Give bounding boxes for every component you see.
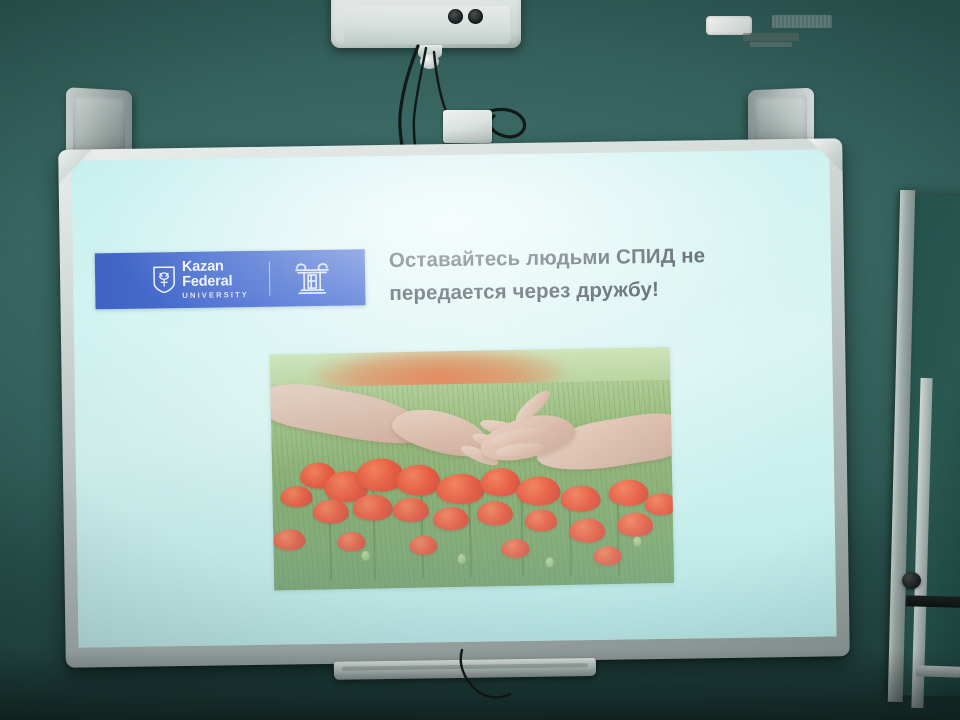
projected-slide: Kazan Federal UNIVERSITY <box>71 149 836 647</box>
slide-photo <box>270 347 674 591</box>
photo-poppy <box>313 499 349 523</box>
photo-bud <box>633 536 641 546</box>
projection-whiteboard: Kazan Federal UNIVERSITY <box>58 138 850 668</box>
photo-poppy <box>569 518 605 542</box>
chalkboard-handle-knob[interactable] <box>902 572 921 589</box>
photo-poppy <box>477 501 513 525</box>
ionic-column-icon <box>292 259 333 298</box>
photo-poppy <box>436 473 485 505</box>
marker-tray-groove <box>342 663 588 671</box>
photo-bud <box>546 557 554 567</box>
photo-poppy <box>396 465 441 497</box>
photo-poppy <box>608 480 648 507</box>
kfu-wordmark: Kazan Federal UNIVERSITY <box>182 259 249 300</box>
banner-divider <box>268 262 270 296</box>
power-outlet-plate <box>443 110 492 143</box>
speaker-grille <box>73 95 125 157</box>
photo-poppy <box>280 486 312 508</box>
photo-poppy <box>644 493 674 515</box>
slide-headline: Оставайтесь людьми СПИД не передается че… <box>389 239 720 310</box>
photo-poppy <box>501 538 529 557</box>
projector-sublabel <box>750 42 792 47</box>
photo-poppy <box>352 494 392 521</box>
kfu-brand-line2: Federal <box>182 274 249 290</box>
photo-poppy <box>560 485 600 512</box>
photo-poppy <box>393 498 429 522</box>
kfu-brand-line1: Kazan <box>182 259 249 275</box>
ceiling-projector <box>344 6 510 44</box>
shield-crest-icon <box>153 267 175 294</box>
kfu-logo-banner: Kazan Federal UNIVERSITY <box>95 249 366 309</box>
photo-poppy <box>480 468 521 497</box>
photo-bud <box>362 551 370 561</box>
photo-poppy <box>433 507 469 531</box>
photo-poppy <box>617 512 653 536</box>
power-socket-right <box>468 9 483 24</box>
whiteboard-surface: Kazan Federal UNIVERSITY <box>71 149 836 647</box>
projector-swivel-joint <box>420 54 439 69</box>
photo-poppy <box>337 532 365 551</box>
photo-poppy <box>409 535 437 554</box>
power-socket-left <box>448 9 463 24</box>
classroom-scene: Kazan Federal UNIVERSITY <box>0 0 960 720</box>
kfu-wordmark-lockup: Kazan Federal UNIVERSITY <box>153 259 249 301</box>
photo-poppy <box>525 510 557 532</box>
photo-poppy <box>273 529 305 551</box>
projector-vent <box>772 15 832 28</box>
projector-label <box>743 33 799 41</box>
photo-bud <box>458 554 466 564</box>
photo-poppy <box>516 476 561 505</box>
kfu-brand-sub: UNIVERSITY <box>182 291 249 300</box>
chalkboard-tray <box>906 595 960 608</box>
chalkboard-foot <box>916 665 960 678</box>
photo-poppy <box>593 546 621 565</box>
